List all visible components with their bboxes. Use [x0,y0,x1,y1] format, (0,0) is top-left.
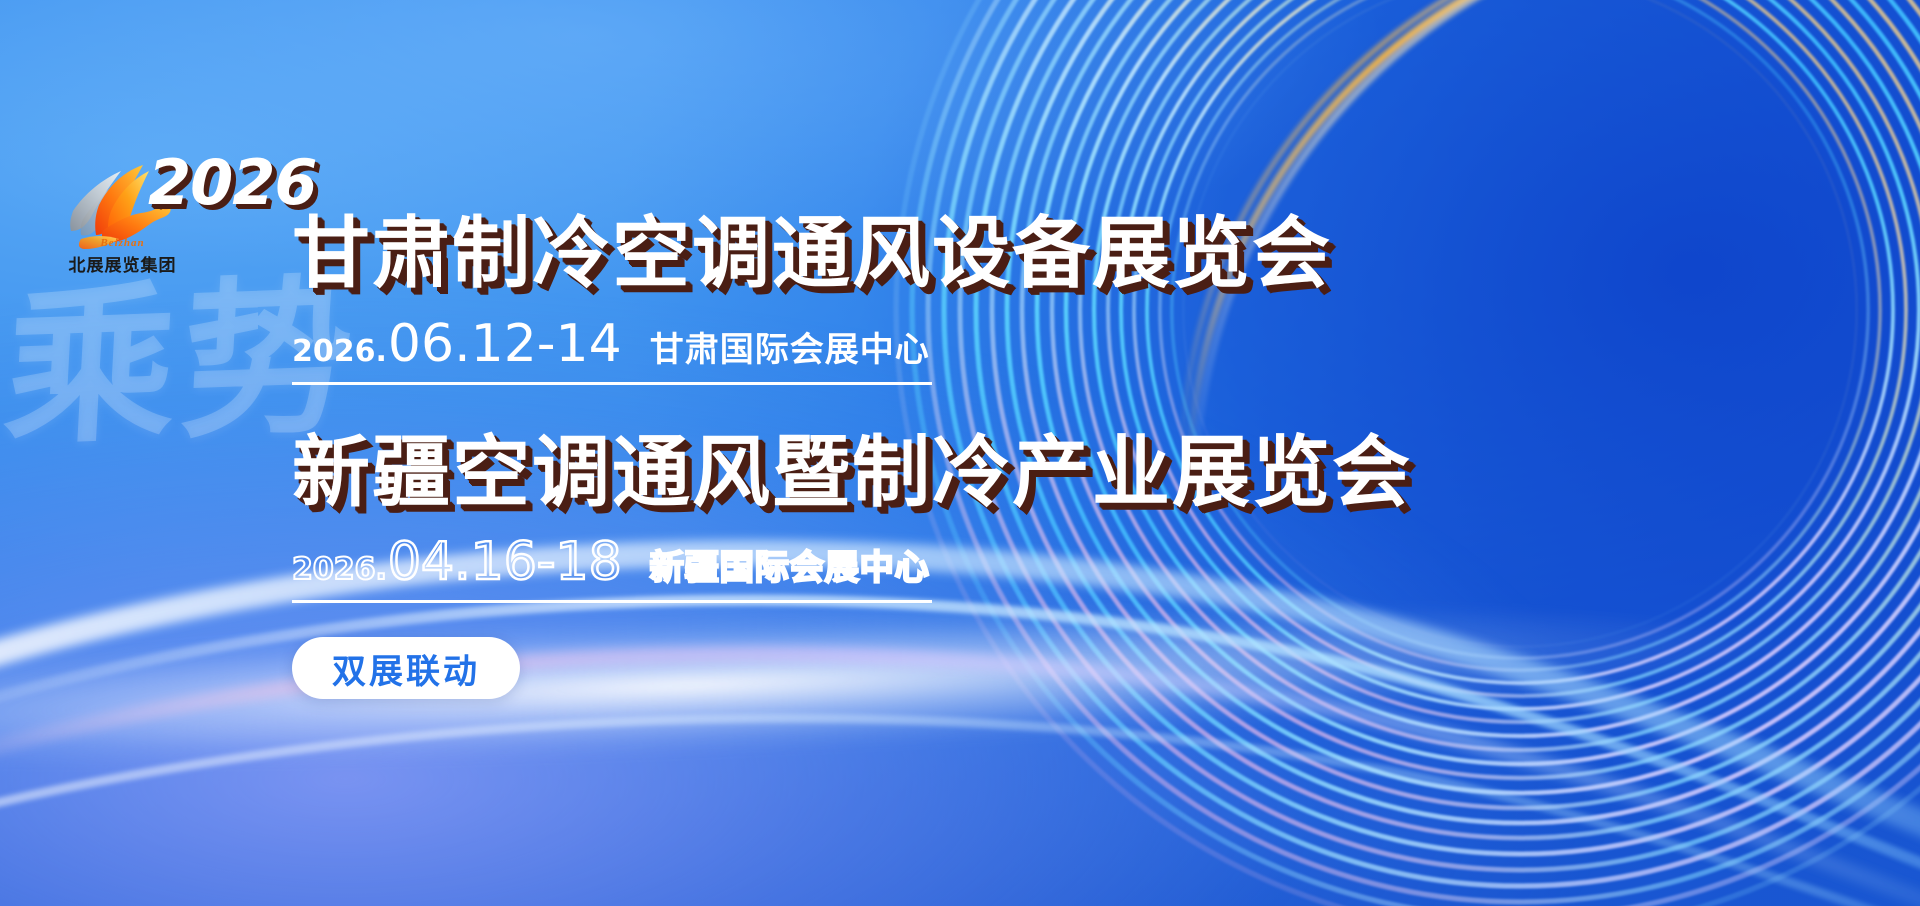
dual-expo-badge[interactable]: 双展联动 [292,637,520,699]
content-column: 甘肃制冷空调通风设备展览会 2026. 06.12-14 甘肃国际会展中心 新疆… [292,210,1412,699]
venue-secondary: 新疆国际会展中心 [650,540,930,589]
exhibition-title-secondary: 新疆空调通风暨制冷产业展览会 [292,429,1412,519]
year-label: 2026 [148,152,317,214]
logo-pinyin: Beizhan [55,237,190,249]
date-range-primary: 06.12-14 [388,314,622,374]
date-range-secondary: 04.16-18 [388,532,622,592]
venue-primary: 甘肃国际会展中心 [650,322,930,371]
exhibition-banner: 乘势 [0,0,1920,906]
exhibition-date-row-secondary: 2026. 04.16-18 新疆国际会展中心 [292,532,932,603]
logo-company-name: 北展展览集团 [55,251,190,276]
exhibition-title-primary: 甘肃制冷空调通风设备展览会 [292,210,1412,300]
exhibition-date-row-primary: 2026. 06.12-14 甘肃国际会展中心 [292,314,932,385]
date-year-primary: 2026. [292,334,387,369]
date-year-secondary: 2026. [292,552,387,587]
